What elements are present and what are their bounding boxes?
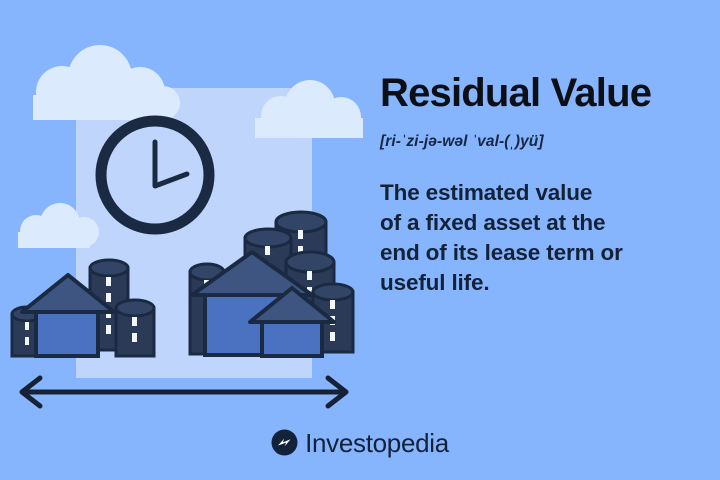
definition-line: useful life. xyxy=(380,268,690,298)
pronunciation: [ri-ˈzi-jə-wəl ˈval-(ˌ)yü] xyxy=(380,133,690,151)
investopedia-logo: Investopedia xyxy=(0,429,720,456)
infographic-card: Residual Value [ri-ˈzi-jə-wəl ˈval-(ˌ)yü… xyxy=(0,0,720,480)
illustration xyxy=(0,0,370,480)
brand-name: Investopedia xyxy=(305,430,449,456)
definition-line: of a fixed asset at the xyxy=(380,208,690,238)
page-title: Residual Value xyxy=(380,72,690,114)
definition-line: end of its lease term or xyxy=(380,238,690,268)
investopedia-bolt-icon xyxy=(271,429,298,456)
text-column: Residual Value [ri-ˈzi-jə-wəl ˈval-(ˌ)yü… xyxy=(380,72,690,299)
timeline-arrow xyxy=(22,378,346,406)
definition-line: The estimated value xyxy=(380,178,690,208)
definition-text: The estimated value of a fixed asset at … xyxy=(380,178,690,299)
cloud-large xyxy=(33,45,180,120)
